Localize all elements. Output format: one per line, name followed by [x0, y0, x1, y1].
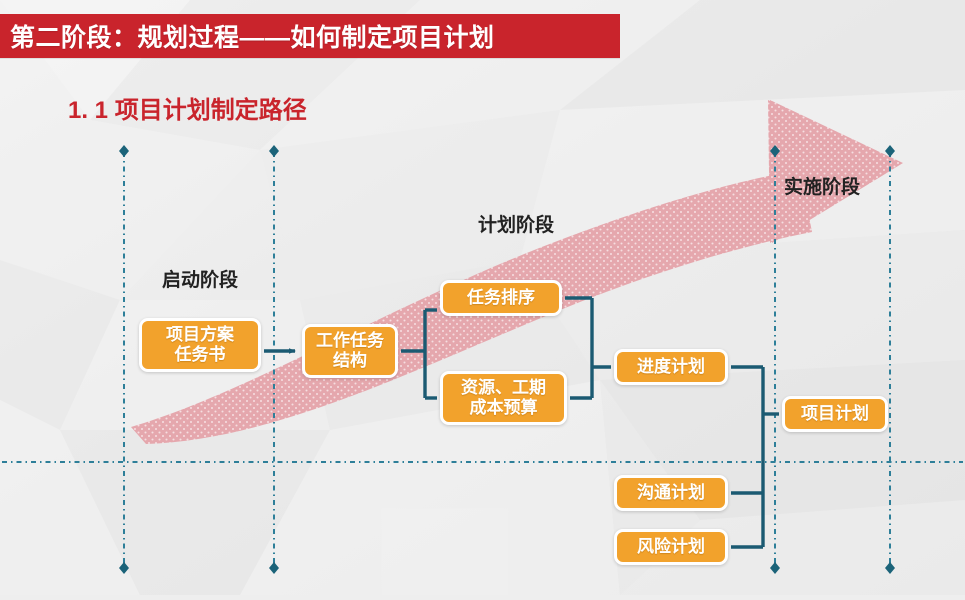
title-banner: 第二阶段：规划过程——如何制定项目计划 [0, 14, 620, 58]
node-line-1: 进度计划 [637, 357, 705, 377]
node-line-2: 任务书 [175, 345, 226, 365]
diamond-marker [119, 562, 129, 574]
node-line-1: 项目方案 [166, 325, 234, 345]
phase-label-implementation: 实施阶段 [784, 172, 860, 199]
node-project-plan[interactable]: 项目计划 [782, 396, 888, 432]
node-work-breakdown-structure[interactable]: 工作任务 结构 [302, 324, 398, 378]
node-communication-plan[interactable]: 沟通计划 [614, 475, 728, 511]
node-project-charter[interactable]: 项目方案 任务书 [139, 318, 261, 372]
node-task-sequencing[interactable]: 任务排序 [440, 280, 562, 316]
phase-label-initiation: 启动阶段 [162, 265, 238, 292]
node-line-2: 成本预算 [470, 398, 538, 418]
node-risk-plan[interactable]: 风险计划 [614, 529, 728, 565]
diamond-marker [269, 145, 279, 157]
phase-label-planning: 计划阶段 [478, 210, 554, 237]
page-title: 第二阶段：规划过程——如何制定项目计划 [0, 18, 495, 54]
node-line-1: 项目计划 [801, 404, 869, 424]
node-line-1: 资源、工期 [461, 378, 546, 398]
node-line-1: 工作任务 [316, 331, 384, 351]
section-subtitle: 1. 1 项目计划制定路径 [68, 90, 307, 125]
diamond-marker [770, 562, 780, 574]
diamond-marker [119, 145, 129, 157]
node-line-1: 任务排序 [467, 288, 535, 308]
node-line-2: 结构 [333, 351, 367, 371]
node-schedule-plan[interactable]: 进度计划 [614, 349, 728, 385]
node-resource-duration-cost-budget[interactable]: 资源、工期 成本预算 [440, 371, 567, 425]
diamond-marker [885, 562, 895, 574]
node-line-1: 沟通计划 [637, 483, 705, 503]
diamond-marker [269, 562, 279, 574]
node-line-1: 风险计划 [637, 537, 705, 557]
